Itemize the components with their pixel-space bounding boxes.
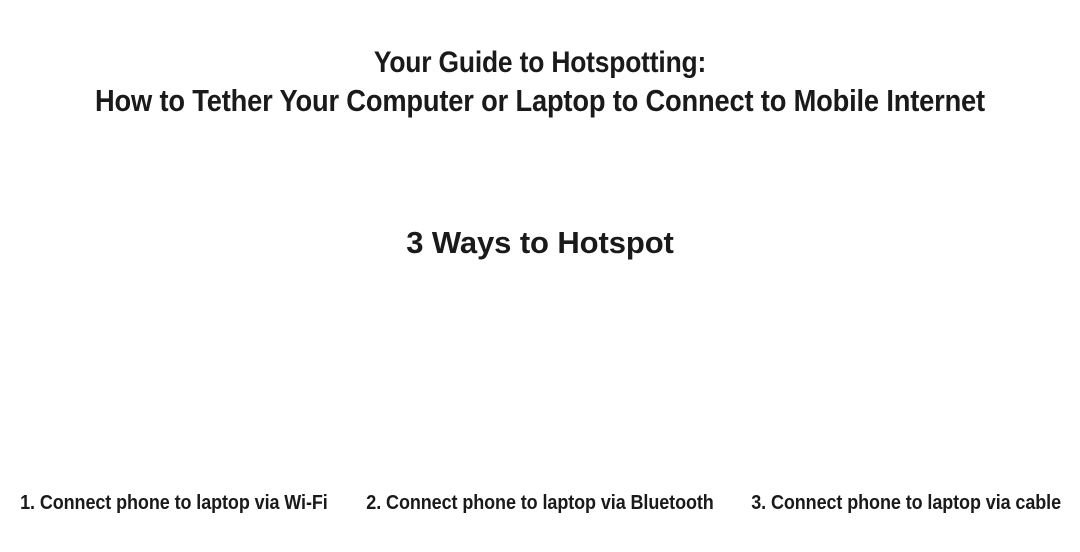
- phone-to-laptop-cable-illustration: [720, 278, 1080, 478]
- method-caption-3-label: 3. Connect phone to laptop via cable: [752, 490, 1062, 516]
- method-caption-3: 3. Connect phone to laptop via cable: [733, 490, 1080, 516]
- page-title-line-1: Your Guide to Hotspotting:: [65, 44, 1015, 82]
- method-caption-row: 1. Connect phone to laptop via Wi-Fi 2. …: [0, 488, 1080, 518]
- method-caption-2: 2. Connect phone to laptop via Bluetooth: [347, 490, 733, 516]
- phone-to-laptop-wifi-illustration: [0, 278, 360, 478]
- page-title-line-2: How to Tether Your Computer or Laptop to…: [65, 82, 1015, 120]
- section-heading: 3 Ways to Hotspot: [0, 223, 1080, 263]
- illustration-row: [0, 278, 1080, 478]
- method-caption-2-label: 2. Connect phone to laptop via Bluetooth: [366, 490, 713, 516]
- phone-to-laptop-bluetooth-illustration: [360, 278, 720, 478]
- method-caption-1-label: 1. Connect phone to laptop via Wi-Fi: [20, 490, 328, 516]
- hotspotting-infographic: Your Guide to Hotspotting: How to Tether…: [0, 0, 1080, 552]
- method-caption-1: 1. Connect phone to laptop via Wi-Fi: [0, 490, 347, 516]
- page-title: Your Guide to Hotspotting: How to Tether…: [0, 44, 1080, 120]
